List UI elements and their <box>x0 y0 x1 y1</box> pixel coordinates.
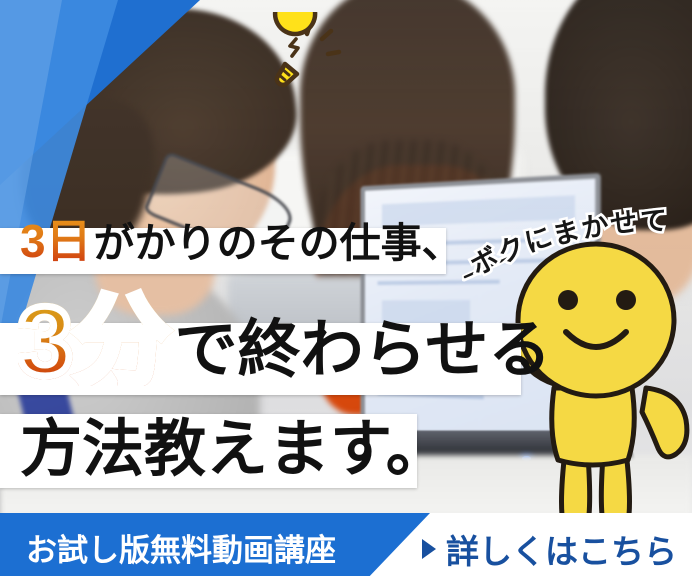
cta-link-label: 詳しくはこちら <box>446 525 677 573</box>
speech-pointer-line <box>462 252 520 282</box>
lightbulb-icon <box>255 12 351 92</box>
headline-line-2: 3分 で終わらせる <box>18 296 551 386</box>
headline-accent-3minutes: 3分 <box>18 296 175 386</box>
headline-line-2-rest: で終わらせる <box>175 319 552 382</box>
headline-line-3: 方法教えます。 <box>20 419 448 481</box>
headline-accent-3days: 3日 <box>20 218 94 264</box>
headline-line-1: 3日 がかりのその仕事、 <box>20 218 463 264</box>
corner-decoration-pale <box>0 0 62 330</box>
mascot-torso <box>552 388 635 465</box>
headline-line-1-rest: がかりのその仕事、 <box>94 223 463 264</box>
mascot-right-eye <box>616 290 636 310</box>
advertisement-banner: ボ ク に ま か せ て 3日 がかりのその仕事、 3分 で終わらせる 方法教… <box>0 0 692 576</box>
cta-details-link[interactable]: 詳しくはこちら <box>422 525 677 573</box>
mascot-left-eye <box>558 290 578 310</box>
mascot-right-arm <box>642 388 687 457</box>
cta-badge-label: お試し版無料動画講座 <box>26 525 336 570</box>
play-triangle-icon <box>422 539 436 559</box>
cta-bar[interactable]: お試し版無料動画講座 詳しくはこちら <box>0 513 692 576</box>
